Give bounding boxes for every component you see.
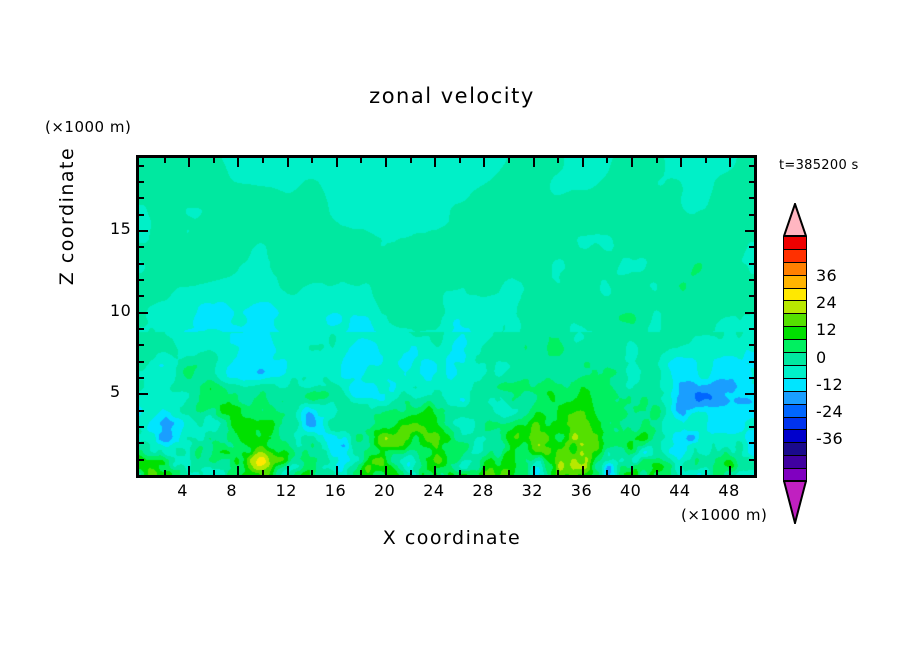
colorbar-label-12: 12	[816, 320, 837, 339]
x-tick-46	[705, 470, 707, 475]
x-tick-top-18	[360, 158, 362, 163]
y-tick-4	[139, 410, 144, 412]
y-tick-right-3	[749, 426, 754, 428]
x-tick-top-38	[606, 158, 608, 163]
y-tick-right-4	[749, 410, 754, 412]
x-tick-20	[385, 466, 387, 475]
x-tick-top-20	[385, 158, 387, 167]
y-tick-right-8	[749, 344, 754, 346]
colorbar-label-neg24: -24	[816, 402, 843, 421]
page-title: zonal velocity	[0, 84, 904, 108]
x-tick-top-26	[459, 158, 461, 163]
y-tick-18	[139, 181, 144, 183]
colorbar-over-arrow	[783, 203, 807, 237]
y-tick-right-12	[749, 279, 754, 281]
x-tick-44	[680, 466, 682, 475]
y-tick-6	[139, 377, 144, 379]
x-tick-label-28: 28	[472, 481, 493, 500]
colorbar-label-neg36: -36	[816, 429, 843, 448]
x-tick-label-36: 36	[571, 481, 592, 500]
x-tick-top-8	[237, 158, 239, 167]
x-tick-top-40	[631, 158, 633, 167]
x-tick-18	[360, 470, 362, 475]
x-tick-label-44: 44	[669, 481, 690, 500]
y-tick-7	[139, 361, 144, 363]
x-tick-6	[213, 470, 215, 475]
x-tick-4	[188, 466, 190, 475]
x-tick-top-44	[680, 158, 682, 167]
x-tick-12	[287, 466, 289, 475]
y-tick-right-2	[749, 442, 754, 444]
y-tick-8	[139, 344, 144, 346]
y-tick-16	[139, 214, 144, 216]
x-tick-label-20: 20	[374, 481, 395, 500]
y-tick-right-13	[749, 263, 754, 265]
x-tick-10	[262, 470, 264, 475]
x-tick-label-4: 4	[177, 481, 188, 500]
colorbar-label-neg12: -12	[816, 375, 843, 394]
x-tick-40	[631, 466, 633, 475]
y-tick-19	[139, 165, 144, 167]
y-tick-3	[139, 426, 144, 428]
x-tick-34	[557, 470, 559, 475]
x-tick-48	[729, 466, 731, 475]
x-tick-24	[434, 466, 436, 475]
x-tick-top-12	[287, 158, 289, 167]
x-tick-top-32	[533, 158, 535, 167]
x-tick-14	[311, 470, 313, 475]
x-tick-16	[336, 466, 338, 475]
colorbar-label-24: 24	[816, 293, 837, 312]
y-tick-10	[139, 312, 148, 314]
y-tick-right-10	[745, 312, 754, 314]
x-tick-22	[410, 470, 412, 475]
x-tick-top-42	[656, 158, 658, 163]
x-tick-top-6	[213, 158, 215, 163]
colorbar-under-arrow	[783, 480, 807, 524]
y-tick-right-1	[749, 459, 754, 461]
x-tick-top-30	[508, 158, 510, 163]
y-axis-title: Z coordinate	[56, 116, 78, 316]
x-tick-label-40: 40	[620, 481, 641, 500]
colorbar-label-0: 0	[816, 348, 826, 367]
x-tick-top-46	[705, 158, 707, 163]
timestamp-annotation: t=385200 s	[779, 158, 859, 173]
x-tick-2	[164, 470, 166, 475]
y-tick-right-15	[745, 230, 754, 232]
y-tick-label-15: 15	[110, 219, 131, 238]
y-tick-right-19	[749, 165, 754, 167]
x-tick-26	[459, 470, 461, 475]
x-tick-top-16	[336, 158, 338, 167]
y-tick-15	[139, 230, 148, 232]
y-tick-label-10: 10	[110, 301, 131, 320]
y-tick-1	[139, 459, 144, 461]
x-tick-top-28	[483, 158, 485, 167]
y-tick-14	[139, 246, 144, 248]
x-tick-8	[237, 466, 239, 475]
y-tick-9	[139, 328, 144, 330]
y-tick-label-5: 5	[110, 382, 121, 401]
contour-field	[139, 158, 754, 475]
x-tick-36	[582, 466, 584, 475]
contour-plot-area	[136, 155, 757, 478]
y-tick-right-14	[749, 246, 754, 248]
y-tick-12	[139, 279, 144, 281]
x-tick-label-8: 8	[226, 481, 237, 500]
x-tick-label-24: 24	[423, 481, 444, 500]
y-tick-right-6	[749, 377, 754, 379]
x-tick-28	[483, 466, 485, 475]
y-tick-2	[139, 442, 144, 444]
x-tick-top-4	[188, 158, 190, 167]
x-tick-label-12: 12	[276, 481, 297, 500]
y-tick-right-11	[749, 295, 754, 297]
x-tick-top-24	[434, 158, 436, 167]
colorbar	[783, 236, 807, 481]
x-tick-top-22	[410, 158, 412, 163]
y-tick-right-18	[749, 181, 754, 183]
y-tick-right-9	[749, 328, 754, 330]
x-tick-32	[533, 466, 535, 475]
y-tick-17	[139, 197, 144, 199]
x-tick-top-48	[729, 158, 731, 167]
y-tick-right-7	[749, 361, 754, 363]
y-tick-13	[139, 263, 144, 265]
colorbar-label-36: 36	[816, 266, 837, 285]
x-tick-top-34	[557, 158, 559, 163]
y-tick-5	[139, 393, 148, 395]
x-tick-top-36	[582, 158, 584, 167]
y-tick-right-17	[749, 197, 754, 199]
y-tick-right-16	[749, 214, 754, 216]
x-tick-42	[656, 470, 658, 475]
y-tick-11	[139, 295, 144, 297]
x-tick-30	[508, 470, 510, 475]
x-tick-label-16: 16	[325, 481, 346, 500]
x-axis-units-label: (×1000 m)	[681, 506, 767, 524]
x-tick-label-48: 48	[718, 481, 739, 500]
y-tick-right-5	[745, 393, 754, 395]
x-axis-title: X coordinate	[0, 527, 904, 549]
x-tick-top-14	[311, 158, 313, 163]
x-tick-label-32: 32	[522, 481, 543, 500]
x-tick-top-2	[164, 158, 166, 163]
x-tick-top-10	[262, 158, 264, 163]
x-tick-38	[606, 470, 608, 475]
